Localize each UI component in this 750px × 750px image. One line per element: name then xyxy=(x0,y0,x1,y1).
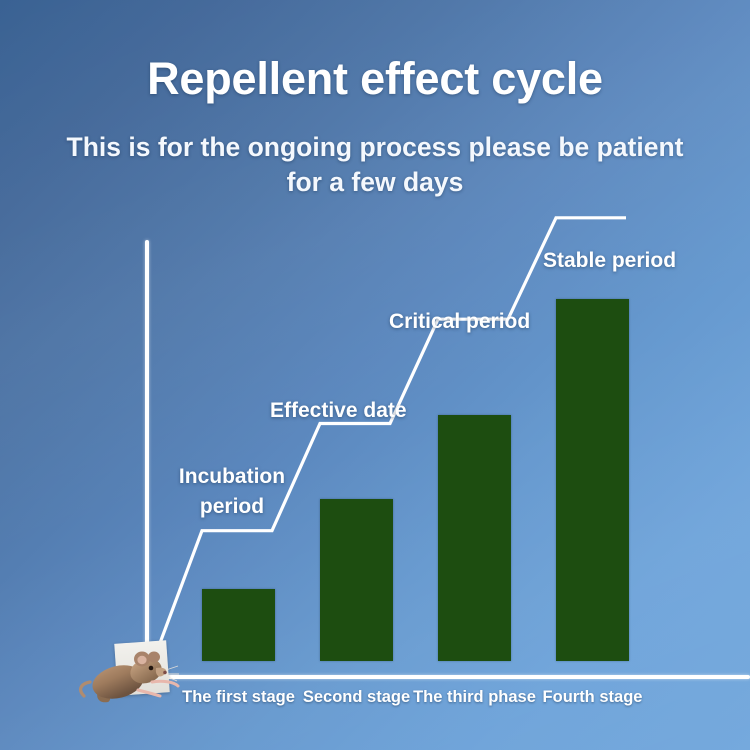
bar-the-third-phase xyxy=(438,415,511,661)
bar-fourth-stage xyxy=(556,299,629,661)
bar-the-first-stage xyxy=(202,589,275,661)
infographic-canvas: Repellent effect cycle This is for the o… xyxy=(0,0,750,750)
bar-second-stage xyxy=(320,499,393,661)
x-axis-line xyxy=(145,675,750,679)
annotation-incubation-period: Incubation period xyxy=(168,462,296,522)
x-axis-label-fourth-stage: Fourth stage xyxy=(523,688,663,707)
y-axis-line xyxy=(145,240,149,678)
mouse-icon xyxy=(78,638,182,712)
annotation-effective-date: Effective date xyxy=(270,396,407,426)
annotation-stable-period: Stable period xyxy=(543,246,676,276)
mouse-photo xyxy=(78,638,182,712)
annotation-critical-period: Critical period xyxy=(389,307,530,337)
